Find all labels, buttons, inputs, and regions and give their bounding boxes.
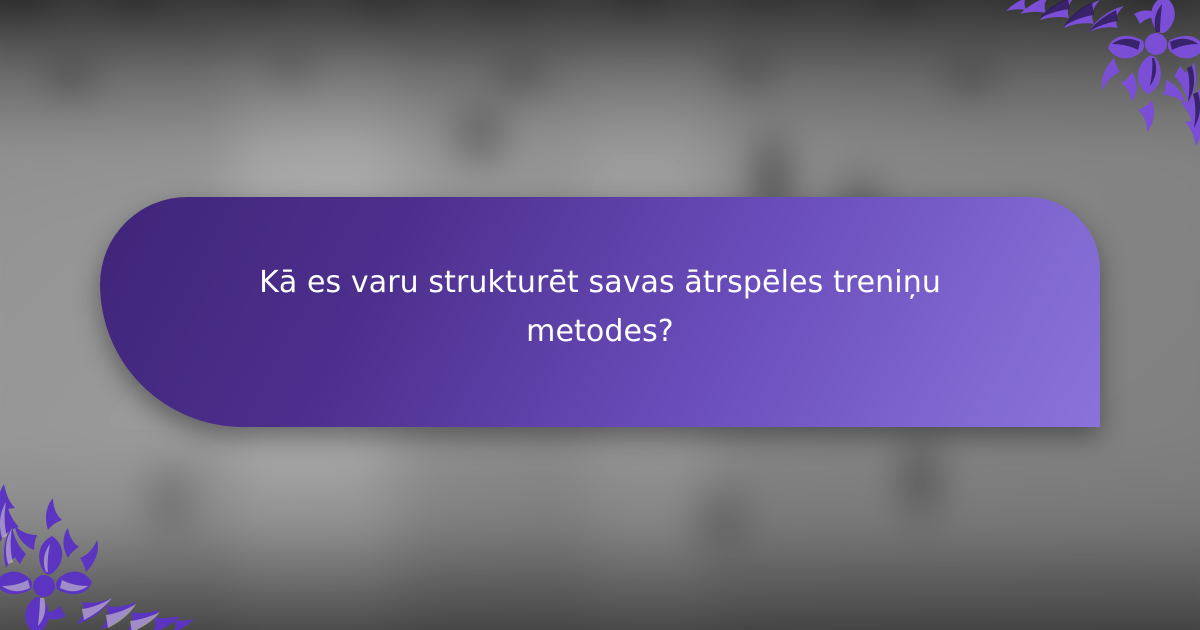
floral-ornament-icon xyxy=(0,484,196,630)
question-title: Kā es varu strukturēt savas ātrspēles tr… xyxy=(190,259,1010,356)
floral-ornament-icon xyxy=(1004,0,1200,146)
question-card: Kā es varu strukturēt savas ātrspēles tr… xyxy=(100,197,1100,427)
poster-canvas: Kā es varu strukturēt savas ātrspēles tr… xyxy=(0,0,1200,630)
